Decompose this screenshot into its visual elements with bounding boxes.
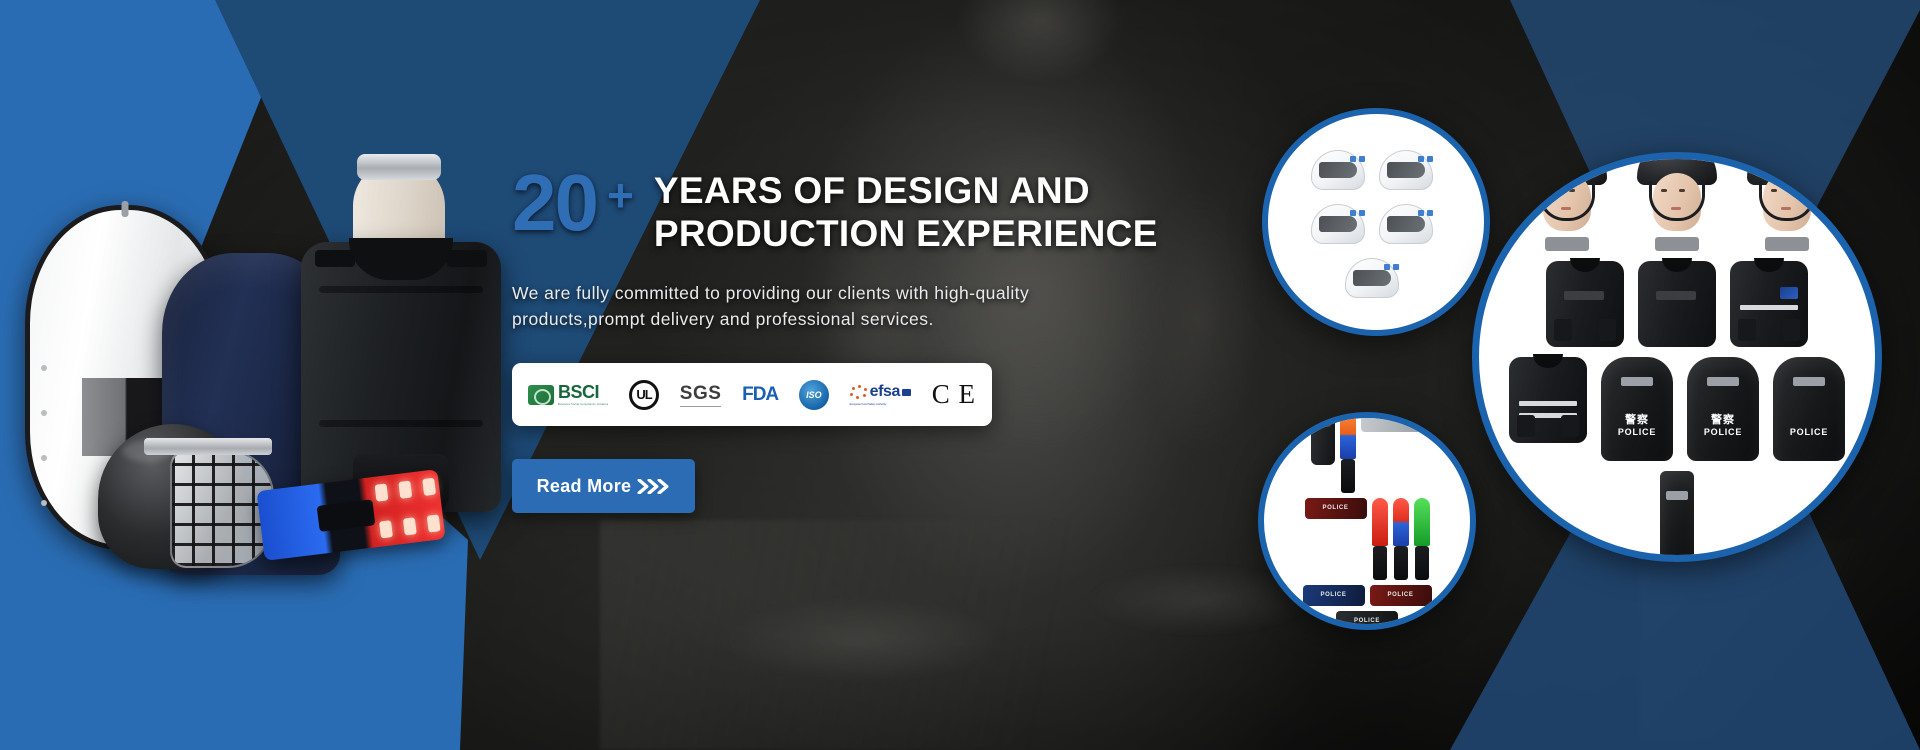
lightbar-lens <box>379 520 393 538</box>
tactical-gear-grid: 警察 POLICE 警察 POLICE POLICE <box>1479 159 1875 555</box>
ul-label: UL <box>636 387 651 402</box>
tactical-helmet-head-item <box>1629 152 1725 251</box>
tactical-vest-item <box>1730 261 1808 347</box>
cert-bsci: BSCI Business Social Compliance Initiati… <box>528 383 608 406</box>
bsci-tagline: Business Social Compliance Initiative <box>558 403 608 406</box>
ul-circle-icon: UL <box>629 380 659 410</box>
efsa-stars-icon <box>850 385 868 399</box>
tactical-vest-item <box>1546 261 1624 347</box>
hero-content: 20 + YEARS OF DESIGN AND PRODUCTION EXPE… <box>512 168 1272 513</box>
baton-case-item: POLICE <box>1303 585 1365 606</box>
vest-strap-right <box>447 250 487 267</box>
fda-label: FDA <box>742 384 778 406</box>
subtitle-line-1: We are fully committed to providing our … <box>512 280 1172 307</box>
cert-iso: ISO <box>799 380 829 410</box>
bsci-leaf-icon <box>528 385 554 405</box>
triple-chevron-right-icon <box>640 479 670 494</box>
police-shield-item: POLICE <box>1773 357 1845 461</box>
collage-traffic-batons: POLICE POLICE POLICE POLICE <box>1258 412 1476 630</box>
iso-label: ISO <box>806 390 822 400</box>
helmet-chrome-band <box>144 438 272 455</box>
vest-seam <box>319 420 483 427</box>
white-helmet-item <box>1311 198 1373 246</box>
hero-banner: 20 + YEARS OF DESIGN AND PRODUCTION EXPE… <box>0 0 1920 750</box>
case-label: POLICE <box>1303 585 1365 606</box>
read-more-label: Read More <box>537 476 632 497</box>
efsa-tagline: European Food Safety Authority <box>850 403 887 406</box>
sgs-label: SGS <box>680 383 722 407</box>
bsci-label: BSCI <box>558 383 599 401</box>
left-product-cluster <box>10 180 490 650</box>
cert-ce: C E <box>932 379 976 410</box>
ce-mark-icon: C E <box>932 379 976 410</box>
tactical-helmet-head-item <box>1519 152 1615 251</box>
tactical-helmet-head-item <box>1739 152 1835 251</box>
shield-knob <box>122 201 129 217</box>
cert-ul: UL <box>629 380 659 410</box>
cert-sgs: SGS <box>680 383 722 407</box>
efsa-row: efsa <box>850 383 911 401</box>
tactical-vest-item <box>1638 261 1716 347</box>
baton-item <box>1414 498 1430 580</box>
collage-white-helmets <box>1262 108 1490 336</box>
hero-subtitle: We are fully committed to providing our … <box>512 280 1172 333</box>
baton-case-item: POLICE <box>1336 611 1398 631</box>
baton-item <box>1340 412 1356 493</box>
shield-rivet <box>41 410 47 416</box>
cert-fda: FDA <box>742 384 778 406</box>
headline-line-1: YEARS OF DESIGN AND <box>654 170 1158 213</box>
iso-globe-icon: ISO <box>799 380 829 410</box>
lightbar-lens <box>398 481 412 499</box>
police-shield-item <box>1660 471 1694 562</box>
shield-english-label: POLICE <box>1687 427 1759 437</box>
white-helmet-item <box>1379 198 1441 246</box>
shield-rivet <box>41 455 47 461</box>
helmet-mesh-grid <box>172 452 272 566</box>
headline-lines: YEARS OF DESIGN AND PRODUCTION EXPERIENC… <box>654 170 1158 256</box>
case-label: POLICE <box>1370 585 1432 606</box>
white-helmet-item <box>1345 252 1407 300</box>
vest-strap-left <box>315 250 355 267</box>
certification-bar: BSCI Business Social Compliance Initiati… <box>512 363 992 426</box>
baton-case-item: POLICE <box>1370 585 1432 606</box>
baton-item <box>1393 498 1409 580</box>
cert-efsa: efsa European Food Safety Authority <box>850 383 911 406</box>
batons-grid: POLICE POLICE POLICE POLICE <box>1264 418 1470 624</box>
lightbar-lens <box>427 514 441 532</box>
read-more-button[interactable]: Read More <box>512 459 695 513</box>
police-shield-item: 警察 POLICE <box>1687 357 1759 461</box>
vest-body <box>301 242 501 512</box>
lightbar-lens <box>375 483 389 501</box>
shield-english-label: POLICE <box>1601 427 1673 437</box>
headline-line-2: PRODUCTION EXPERIENCE <box>654 213 1158 256</box>
mannequin-collar <box>357 154 441 180</box>
shield-chinese-label: 警察 <box>1601 411 1673 427</box>
baton-case-item: POLICE <box>1305 498 1367 519</box>
white-helmet-item <box>1379 144 1441 192</box>
white-helmet-item <box>1311 144 1373 192</box>
years-plus-sign: + <box>607 172 634 218</box>
vest-seam <box>319 286 483 293</box>
years-number: 20 <box>512 168 597 238</box>
shield-rivet <box>41 500 47 506</box>
efsa-label: efsa <box>870 383 900 401</box>
collage-tactical-gear: 警察 POLICE 警察 POLICE POLICE <box>1472 152 1882 562</box>
police-shield-item: 警察 POLICE <box>1601 357 1673 461</box>
subtitle-line-2: products,prompt delivery and professiona… <box>512 306 1172 333</box>
shield-chinese-label: 警察 <box>1687 411 1759 427</box>
hero-headline: 20 + YEARS OF DESIGN AND PRODUCTION EXPE… <box>512 168 1272 256</box>
flashlight-item <box>1311 412 1335 465</box>
case-label: POLICE <box>1305 498 1367 519</box>
efsa-eu-flag-icon <box>902 389 911 396</box>
riot-helmet-product <box>98 410 280 595</box>
shield-english-label: POLICE <box>1773 427 1845 437</box>
shield-rivet <box>41 365 47 371</box>
tactical-vest-item <box>1509 357 1587 443</box>
baton-item <box>1372 498 1388 580</box>
white-helmets-grid <box>1268 114 1484 330</box>
lightbar-lens <box>403 517 417 535</box>
lightbar-center-block <box>317 499 376 532</box>
case-label: POLICE <box>1336 611 1398 631</box>
lightbar-lens <box>422 478 436 496</box>
